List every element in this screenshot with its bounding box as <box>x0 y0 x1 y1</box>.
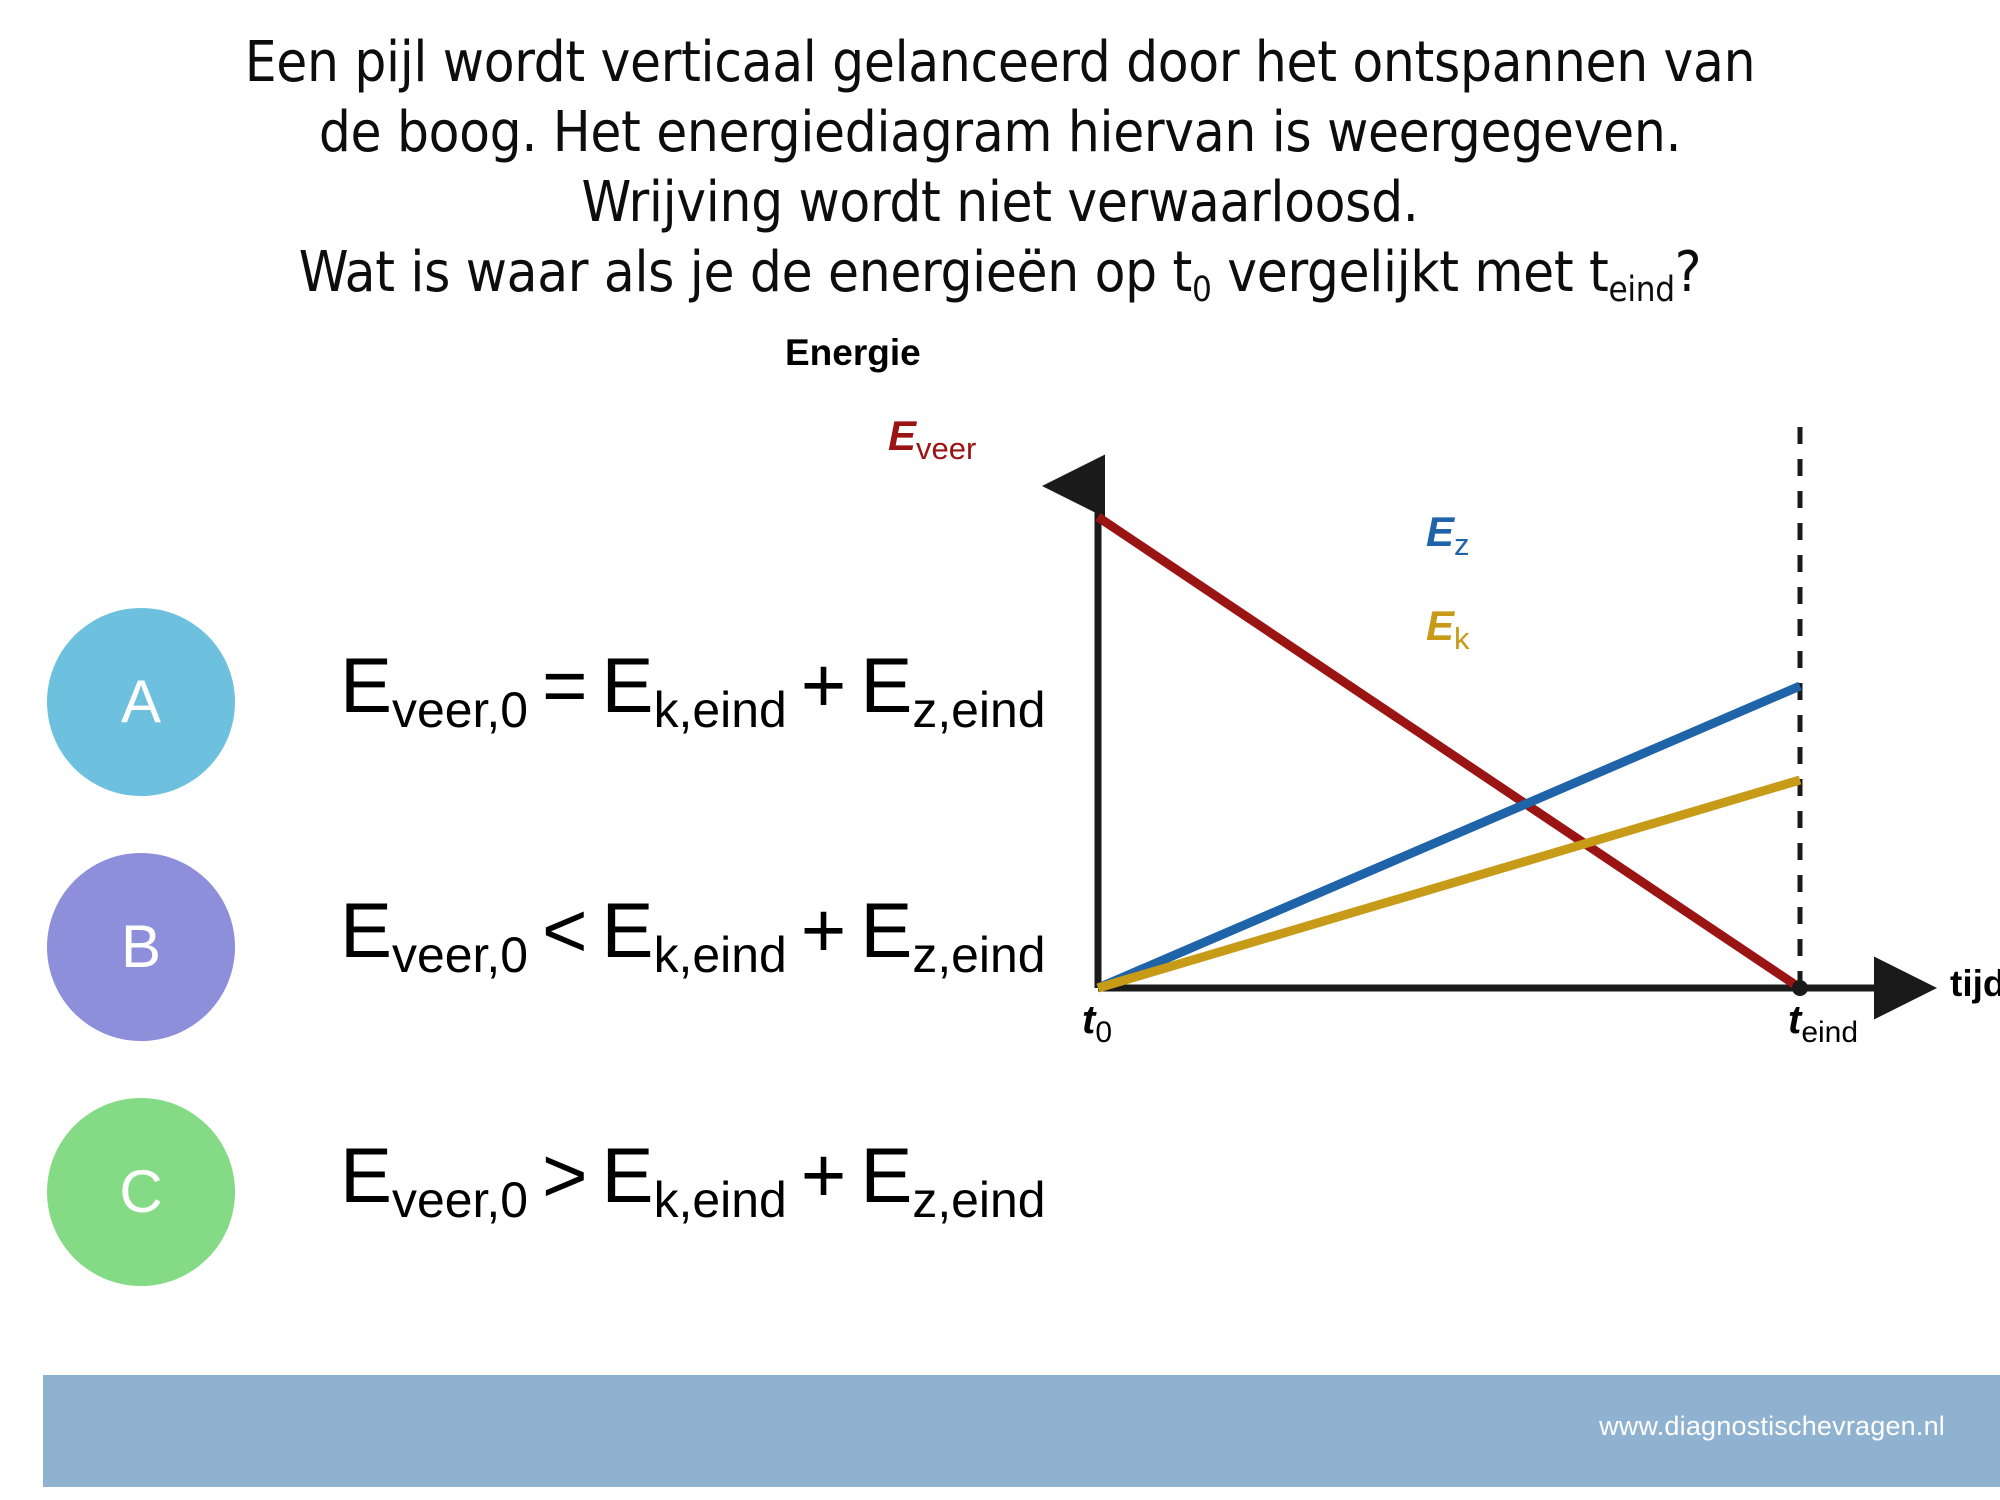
question-line-4-sub-teind: eind <box>1608 270 1674 310</box>
formula-b-rhs1: E <box>602 886 654 974</box>
formula-b-lhs-sub: veer,0 <box>392 927 528 983</box>
formula-b-rhs1-sub: k,eind <box>654 927 787 983</box>
formula-a-plus: + <box>787 641 861 729</box>
formula-c-rhs2: E <box>860 1131 912 1219</box>
curve-label-e-veer-sub: veer <box>916 431 976 466</box>
x-axis-title: tijd <box>1950 963 2000 1005</box>
option-bullet-a[interactable]: A <box>47 608 235 796</box>
t-eind-axis-dot <box>1792 980 1808 996</box>
curve-e-z <box>1098 686 1800 988</box>
formula-b-operator: < <box>528 886 602 974</box>
curve-e-veer <box>1098 517 1800 988</box>
question-line-4-sub-t0: 0 <box>1192 270 1212 310</box>
footer-url: www.diagnostischevragen.nl <box>1599 1411 1945 1442</box>
option-bullet-c[interactable]: C <box>47 1098 235 1286</box>
formula-b-lhs: E <box>340 886 392 974</box>
formula-a-lhs-sub: veer,0 <box>392 682 528 738</box>
formula-a-rhs1: E <box>602 641 654 729</box>
question-line-3: Wrijving wordt niet verwaarloosd. <box>0 168 2000 238</box>
x-tick-t-eind-sub: eind <box>1801 1016 1858 1049</box>
option-formula-c: Eveer,0>Ek,eind+Ez,eind <box>340 1136 1046 1214</box>
question-line-1: Een pijl wordt verticaal gelanceerd door… <box>0 28 2000 98</box>
curve-label-e-k-sub: k <box>1454 621 1470 656</box>
formula-a-rhs1-sub: k,eind <box>654 682 787 738</box>
formula-a-lhs: E <box>340 641 392 729</box>
curve-label-e-k-symbol: E <box>1426 602 1454 649</box>
question-line-2: de boog. Het energiediagram hiervan is w… <box>0 98 2000 168</box>
energy-diagram: Energie Eveer Ez Ek t0 teind tijd <box>1000 390 2000 1070</box>
y-axis-title: Energie <box>785 332 921 374</box>
question-title: Een pijl wordt verticaal gelanceerd door… <box>0 28 2000 315</box>
x-tick-t0: t0 <box>1082 998 1112 1043</box>
formula-c-rhs1-sub: k,eind <box>654 1172 787 1228</box>
curve-label-e-veer: Eveer <box>888 412 976 460</box>
formula-b-rhs2: E <box>860 886 912 974</box>
option-formula-b: Eveer,0<Ek,eind+Ez,eind <box>340 891 1046 969</box>
formula-c-lhs-sub: veer,0 <box>392 1172 528 1228</box>
footer-bar: www.diagnostischevragen.nl <box>43 1375 2000 1487</box>
formula-c-operator: > <box>528 1131 602 1219</box>
formula-c-rhs1: E <box>602 1131 654 1219</box>
question-line-4-part-a: Wat is waar als je de energieën op t <box>299 240 1192 305</box>
formula-a-rhs2: E <box>860 641 912 729</box>
x-tick-t0-symbol: t <box>1082 998 1095 1042</box>
answer-option-c[interactable]: C Eveer,0>Ek,eind+Ez,eind <box>40 1090 1100 1335</box>
curve-label-e-veer-symbol: E <box>888 412 916 459</box>
formula-c-lhs: E <box>340 1131 392 1219</box>
x-tick-t-eind-symbol: t <box>1788 998 1801 1042</box>
x-tick-t0-sub: 0 <box>1095 1016 1112 1049</box>
formula-b-plus: + <box>787 886 861 974</box>
question-line-4: Wat is waar als je de energieën op t0 ve… <box>0 238 2000 315</box>
answer-option-a[interactable]: A Eveer,0=Ek,eind+Ez,eind <box>40 600 1100 845</box>
option-bullet-b[interactable]: B <box>47 853 235 1041</box>
option-formula-a: Eveer,0=Ek,eind+Ez,eind <box>340 646 1046 724</box>
answer-option-b[interactable]: B Eveer,0<Ek,eind+Ez,eind <box>40 845 1100 1090</box>
question-line-4-part-b: vergelijkt met t <box>1212 240 1609 305</box>
curve-label-e-k: Ek <box>1426 602 1470 650</box>
curve-e-k <box>1098 780 1800 988</box>
formula-a-operator: = <box>528 641 602 729</box>
formula-c-plus: + <box>787 1131 861 1219</box>
curve-label-e-z-symbol: E <box>1426 508 1454 555</box>
curve-label-e-z: Ez <box>1426 508 1470 556</box>
x-tick-t-eind: teind <box>1788 998 1858 1043</box>
question-line-4-part-c: ? <box>1675 240 1701 305</box>
answer-options-list: A Eveer,0=Ek,eind+Ez,eind B Eveer,0<Ek,e… <box>40 600 1100 1335</box>
formula-c-rhs2-sub: z,eind <box>912 1172 1045 1228</box>
curve-label-e-z-sub: z <box>1454 527 1470 562</box>
